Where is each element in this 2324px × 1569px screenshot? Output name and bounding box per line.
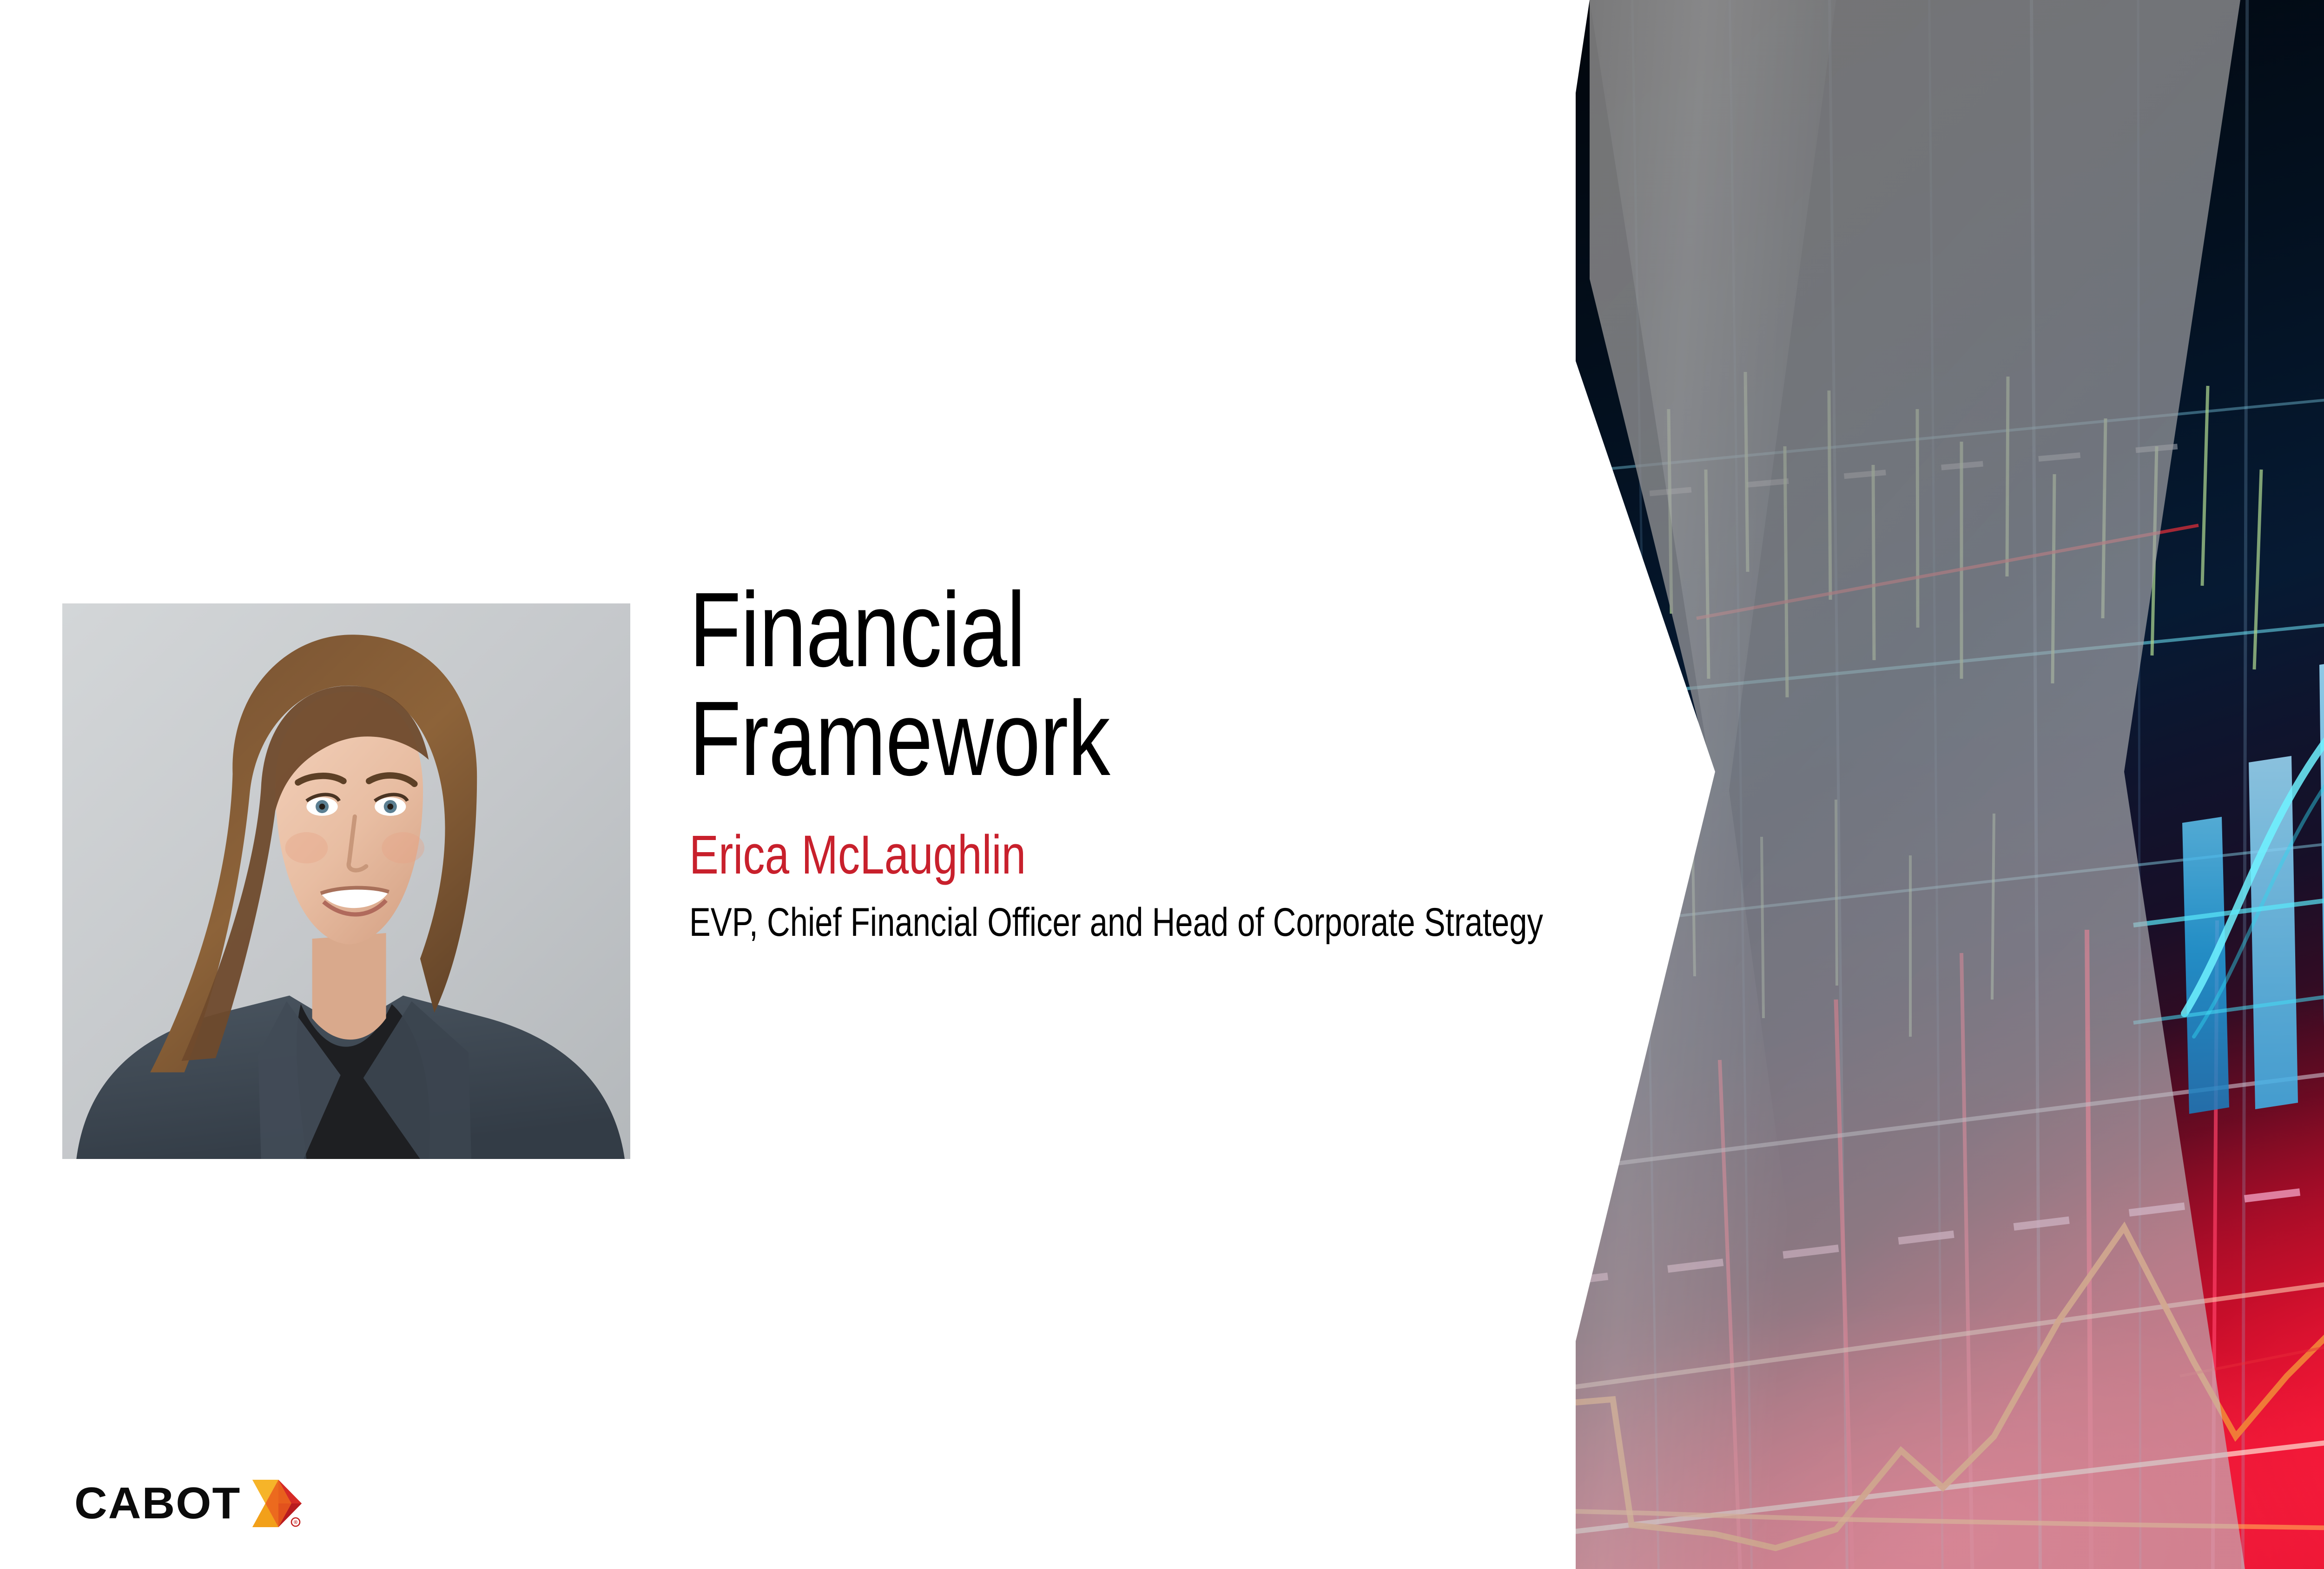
- brand-logo: CABOT ®: [74, 1477, 304, 1529]
- presenter-photo-illustration: [62, 603, 630, 1159]
- brand-wordmark: CABOT: [74, 1481, 241, 1526]
- slide-root: 15 1500 45 10: [0, 0, 2324, 1569]
- financial-data-visual: 15 1500 45 10: [1576, 0, 2324, 1569]
- page-title-line-2: Framework: [689, 684, 1426, 793]
- graphic-canvas: 15 1500 45 10: [1576, 0, 2324, 1569]
- registered-symbol: ®: [294, 1520, 297, 1525]
- title-text-block: Financial Framework Erica McLaughlin EVP…: [689, 576, 1610, 947]
- cabot-chevron-mark: ®: [250, 1476, 304, 1531]
- page-title-line-1: Financial: [689, 576, 1426, 684]
- presenter-name: Erica McLaughlin: [689, 820, 1426, 890]
- presenter-photo: [62, 603, 630, 1159]
- presenter-role: EVP, Chief Financial Officer and Head of…: [689, 898, 1611, 947]
